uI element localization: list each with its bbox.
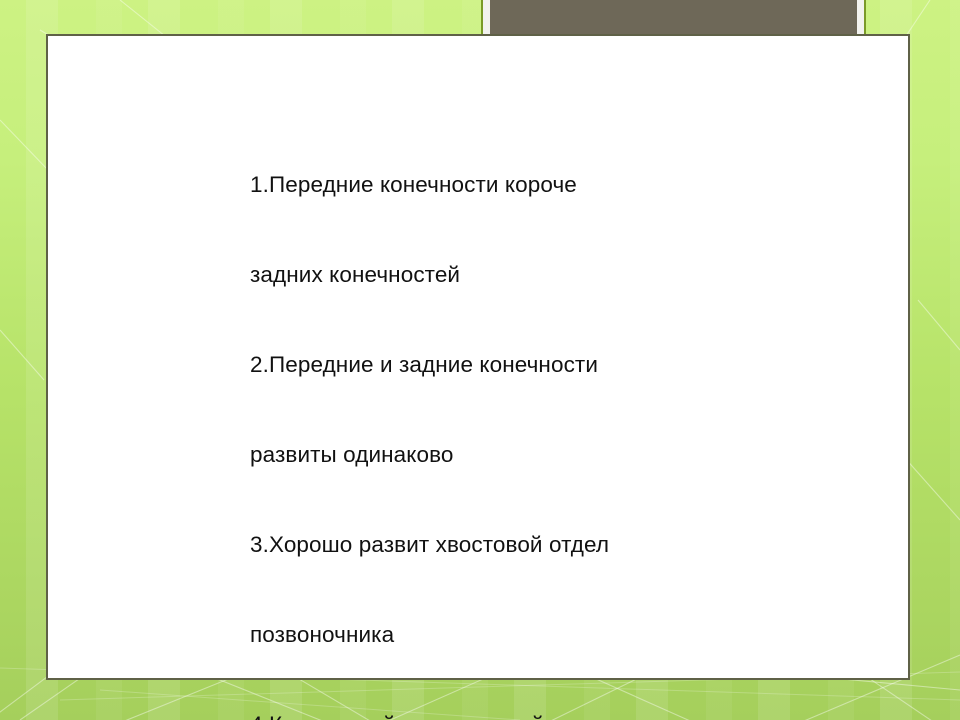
slide-canvas: 1.Передние конечности короче задних коне…: [0, 0, 960, 720]
body-line: развиты одинаково: [250, 440, 770, 470]
content-panel: 1.Передние конечности короче задних коне…: [46, 34, 910, 680]
body-line: 4.Копчиковый и крестцовый отделы: [250, 710, 770, 720]
body-line: 2.Передние и задние конечности: [250, 350, 770, 380]
body-line: позвоночника: [250, 620, 770, 650]
body-line: задних конечностей: [250, 260, 770, 290]
body-line: 3.Хорошо развит хвостовой отдел: [250, 530, 770, 560]
body-line: 1.Передние конечности короче: [250, 170, 770, 200]
body-text-block: 1.Передние конечности короче задних коне…: [250, 110, 770, 720]
